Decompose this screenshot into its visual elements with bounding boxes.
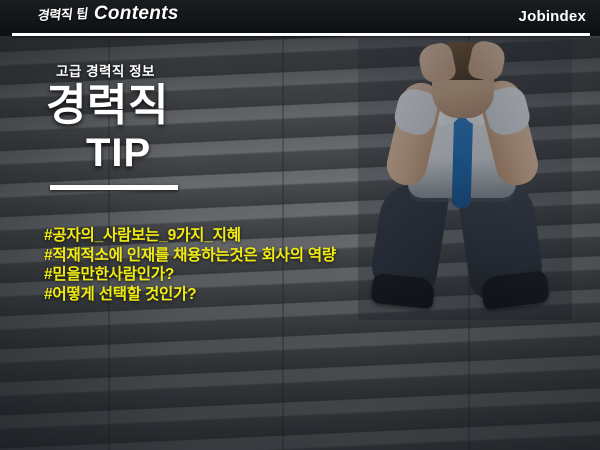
- page-subtitle: TIP: [86, 133, 300, 173]
- hand-right: [466, 39, 507, 83]
- title-underline-rule: [50, 185, 178, 190]
- header-brush-korean: 경력직 팁: [37, 3, 89, 24]
- title-block: 고급 경력직 정보 경력직 TIP: [0, 60, 300, 190]
- header-divider-rule: [12, 33, 590, 36]
- page-title: 경력직: [46, 84, 300, 129]
- hashtag-item: #어떻게 선택할 것인가?: [44, 285, 336, 305]
- hashtag-list: #공자의_사람보는_9가지_지혜 #적재적소에 인재를 채용하는것은 회사의 역…: [44, 226, 336, 304]
- seated-man-figure: [358, 38, 572, 320]
- brand-logo-jobindex[interactable]: Jobindex: [519, 8, 586, 25]
- hashtag-item: #적재적소에 인재를 채용하는것은 회사의 역량: [44, 246, 336, 266]
- header-brush-english: Contents: [94, 3, 179, 25]
- hashtag-item: #믿을만한사람인가?: [44, 265, 336, 285]
- slide-canvas: 경력직 팁 Contents Jobindex 고급 경력직 정보 경력직 TI…: [0, 0, 600, 450]
- header-title-group: 경력직 팁 Contents: [38, 3, 179, 25]
- hashtag-item: #공자의_사람보는_9가지_지혜: [44, 226, 336, 246]
- header-bar: 경력직 팁 Contents Jobindex: [0, 0, 600, 36]
- title-eyebrow: 고급 경력직 정보: [56, 60, 300, 80]
